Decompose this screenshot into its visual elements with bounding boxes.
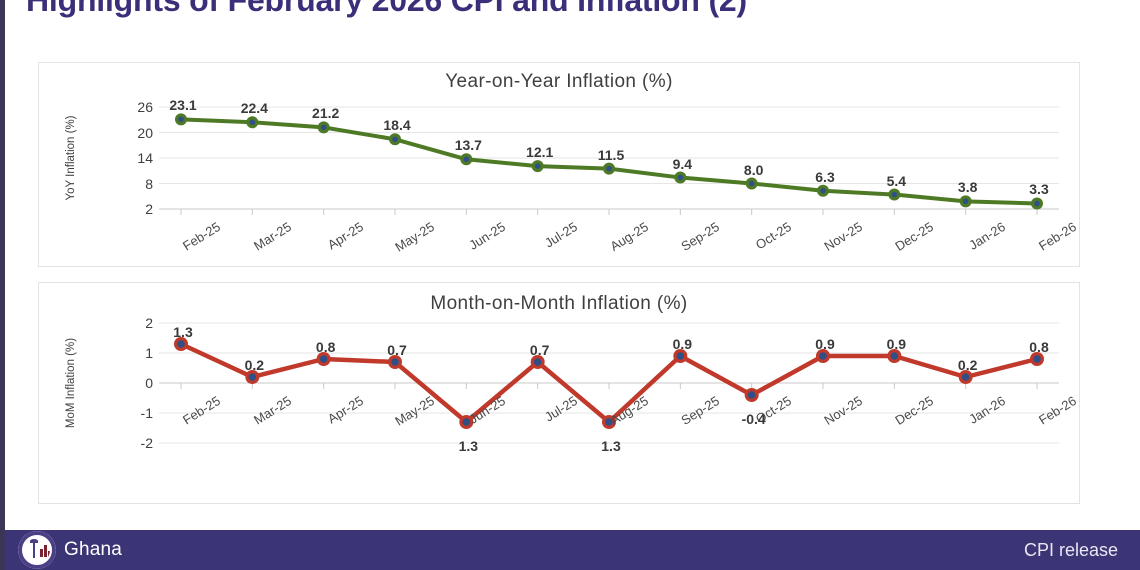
- data-point-label: 3.3: [1029, 181, 1048, 197]
- data-point-label: 13.7: [455, 137, 482, 153]
- data-point-marker: [745, 388, 759, 402]
- slide-footer: Ghana CPI release: [0, 530, 1140, 570]
- data-point-label: 1.3: [173, 324, 192, 340]
- chart-card-mom: Month-on-Month Inflation (%) MoM Inflati…: [38, 282, 1080, 504]
- x-axis-tick-label: May-25: [370, 219, 437, 269]
- data-point-marker: [460, 153, 472, 165]
- data-point-label: 0.7: [530, 342, 549, 358]
- x-axis-tick-label: Dec-25: [869, 219, 936, 269]
- x-axis-tick-label: Oct-25: [726, 219, 793, 269]
- y-axis-title-mom: MoM Inflation (%): [65, 323, 77, 443]
- slide-canvas: Highlights of February 2026 CPI and Infl…: [0, 0, 1140, 570]
- x-axis-tick-label: Aug-25: [584, 219, 651, 269]
- ghana-statistical-service-seal-icon: [18, 531, 56, 569]
- chart-title-mom: Month-on-Month Inflation (%): [39, 293, 1079, 315]
- data-point-label: 11.5: [598, 147, 624, 163]
- data-point-marker: [888, 189, 900, 201]
- data-point-marker: [175, 113, 187, 125]
- data-point-label: 9.4: [673, 156, 692, 172]
- data-point-label: 0.8: [316, 339, 335, 355]
- y-axis-tick-label: 20: [113, 125, 153, 141]
- x-axis-tick-label: Jul-25: [512, 219, 579, 269]
- data-point-label: 12.1: [526, 144, 553, 160]
- data-point-label: 0.9: [673, 336, 692, 352]
- data-point-label: 8.0: [744, 162, 763, 178]
- y-axis-tick-label: 1: [113, 345, 153, 361]
- data-point-label: 1.3: [459, 438, 478, 454]
- y-axis-tick-label: 2: [113, 315, 153, 331]
- y-axis-tick-label: 2: [113, 201, 153, 217]
- y-axis-tick-label: 26: [113, 99, 153, 115]
- data-point-marker: [960, 195, 972, 207]
- x-axis-tick-label: Nov-25: [798, 219, 865, 269]
- y-axis-tick-label: 0: [113, 375, 153, 391]
- y-axis-tick-label: -2: [113, 435, 153, 451]
- y-axis-tick-label: 14: [113, 150, 153, 166]
- data-point-label: -0.4: [742, 411, 766, 427]
- data-point-label: 0.7: [387, 342, 406, 358]
- chart-card-yoy: Year-on-Year Inflation (%) YoY Inflation…: [38, 62, 1080, 267]
- page-title: Highlights of February 2026 CPI and Infl…: [26, 0, 747, 19]
- x-axis-tick-label: Mar-25: [227, 219, 294, 269]
- x-axis-tick-label: Apr-25: [298, 219, 365, 269]
- data-point-marker: [674, 172, 686, 184]
- data-point-label: 21.2: [312, 105, 339, 121]
- x-axis-tick-label: Sep-25: [655, 219, 722, 269]
- x-axis-tick-label: Jan-26: [940, 219, 1007, 269]
- data-point-label: 18.4: [383, 117, 410, 133]
- y-axis-title-yoy: YoY Inflation (%): [65, 107, 77, 209]
- data-point-marker: [389, 133, 401, 145]
- footer-release-label: CPI release: [1024, 530, 1118, 570]
- slide-title-container: Highlights of February 2026 CPI and Infl…: [0, 0, 1140, 26]
- x-axis-tick-label: Feb-26: [1012, 219, 1079, 269]
- data-point-marker: [603, 163, 615, 175]
- data-point-marker: [532, 160, 544, 172]
- data-point-marker: [246, 116, 258, 128]
- data-point-label: 0.2: [958, 357, 977, 373]
- data-point-marker: [746, 178, 758, 190]
- data-point-label: 23.1: [169, 97, 196, 113]
- x-axis-tick-label: Jun-25: [441, 219, 508, 269]
- data-point-label: 6.3: [815, 169, 834, 185]
- y-axis-tick-label: 8: [113, 176, 153, 192]
- data-point-label: 0.2: [245, 357, 264, 373]
- data-point-marker: [817, 185, 829, 197]
- data-point-label: 22.4: [241, 100, 268, 116]
- footer-branding: Ghana: [18, 530, 122, 570]
- x-axis-tick-label: Feb-25: [156, 219, 223, 269]
- y-axis-tick-label: -1: [113, 405, 153, 421]
- data-point-marker: [1031, 197, 1043, 209]
- data-point-label: 1.3: [601, 438, 620, 454]
- chart-title-yoy: Year-on-Year Inflation (%): [39, 71, 1079, 93]
- footer-org-name: Ghana: [64, 539, 122, 561]
- left-edge-strip: [0, 0, 5, 570]
- data-point-label: 5.4: [887, 173, 906, 189]
- data-point-label: 3.8: [958, 179, 977, 195]
- data-point-marker: [318, 121, 330, 133]
- data-point-label: 0.8: [1029, 339, 1048, 355]
- data-point-label: 0.9: [887, 336, 906, 352]
- data-point-label: 0.9: [815, 336, 834, 352]
